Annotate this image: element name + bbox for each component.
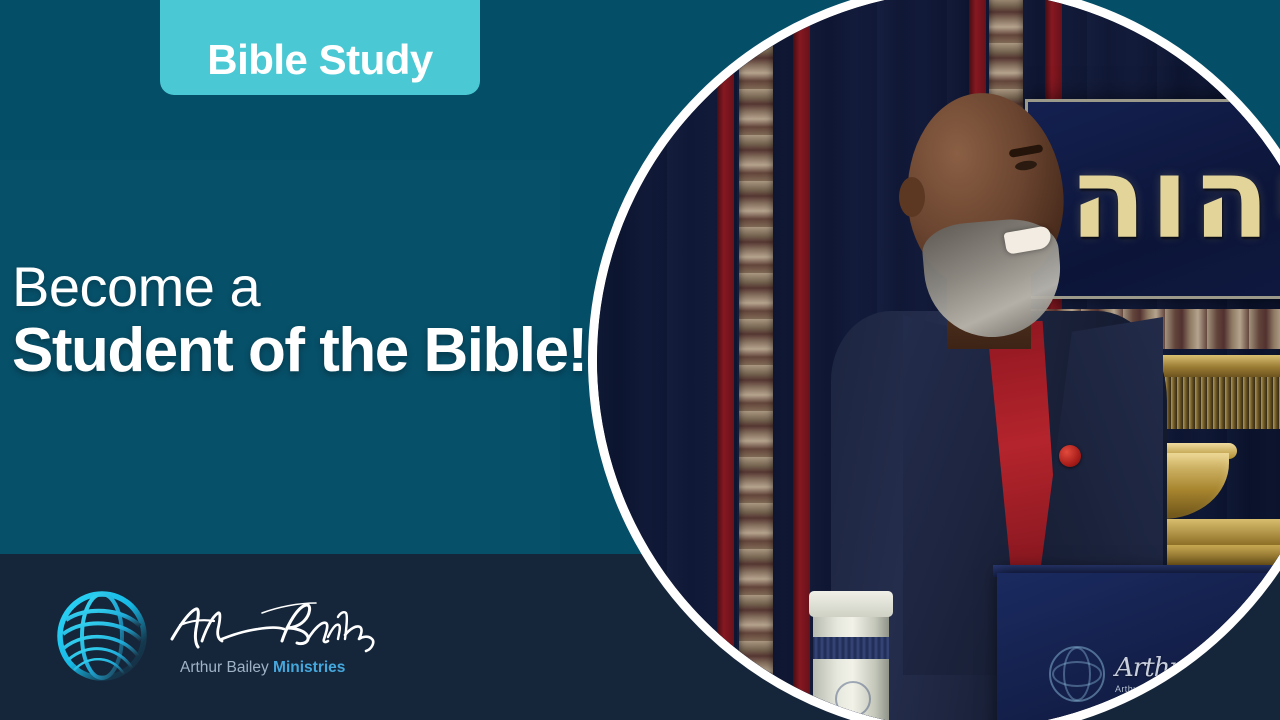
brand-name-secondary: Ministries [273, 659, 345, 676]
lectern-signature-text: Arthur Bailey [1115, 655, 1279, 681]
speaker-ear [899, 177, 925, 217]
globe-icon [52, 586, 152, 686]
curtain-braid-trim [739, 0, 773, 720]
curtain-red-stripe [793, 0, 810, 720]
lectern-logo-subtitle: Arthur Bailey Ministries [1115, 684, 1279, 694]
headline-line-2: Student of the Bible! [12, 318, 612, 383]
brand-signature-icon [166, 595, 378, 653]
headline-line-1: Become a [12, 258, 612, 316]
lectern-globe-icon [1049, 646, 1105, 702]
brand-logo[interactable]: Arthur Bailey Ministries [52, 576, 392, 696]
brand-name-line: Arthur Bailey Ministries [180, 660, 345, 676]
speaker-photo-circle: יהוה [588, 0, 1280, 720]
water-tumbler-logo-mark [835, 681, 871, 717]
category-badge-label: Bible Study [207, 39, 433, 81]
headline-block: Become a Student of the Bible! [12, 258, 612, 383]
lectern-logo-text: Arthur Bailey Arthur Bailey Ministries [1115, 655, 1279, 694]
category-badge[interactable]: Bible Study [160, 0, 480, 95]
lectern-ministry-logo: Arthur Bailey Arthur Bailey Ministries [1049, 631, 1280, 717]
water-tumbler-band [813, 637, 889, 659]
brand-name-primary: Arthur Bailey [180, 659, 269, 676]
speaker-lapel-pin [1059, 445, 1081, 467]
brand-text-block: Arthur Bailey Ministries [166, 593, 378, 679]
curtain-red-stripe [717, 0, 734, 720]
thumbnail-canvas: Bible Study Become a Student of the Bibl… [0, 0, 1280, 720]
water-tumbler-lid [809, 591, 893, 617]
speaker-photo-inner: יהוה [597, 0, 1280, 720]
